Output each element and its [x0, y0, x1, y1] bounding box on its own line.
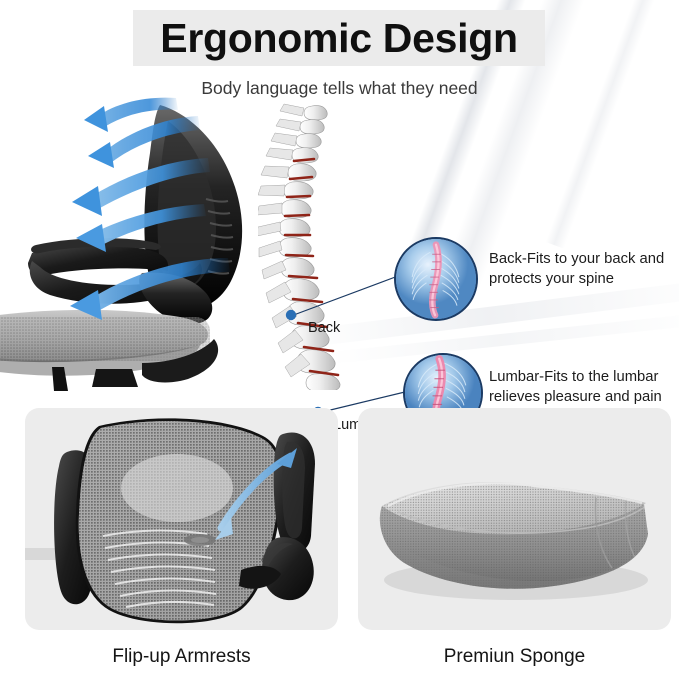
callout-back: Back-Fits to your back and protects your… — [489, 250, 679, 289]
page-title: Ergonomic Design — [133, 10, 545, 66]
spine-label-back: Back — [308, 320, 340, 336]
panel-premium-sponge — [358, 408, 671, 630]
infographic-root: Ergonomic Design Body language tells wha… — [0, 0, 679, 692]
caption-flip-up-armrests: Flip-up Armrests — [25, 646, 338, 668]
spine-xray-inset-back — [394, 237, 478, 321]
callout-back-line1: Back-Fits to your back and — [489, 250, 679, 270]
callout-lumbar-line2: relieves pleasure and pain — [489, 388, 679, 408]
mesh-seat-cushion-icon — [358, 408, 671, 630]
panel-flip-up-armrests — [25, 408, 338, 630]
marker-dot-back — [286, 310, 296, 320]
mesh-chair-back-icon — [25, 408, 338, 630]
callout-back-line2: protects your spine — [489, 270, 679, 290]
callout-lumbar-line1: Lumbar-Fits to the lumbar — [489, 368, 679, 388]
callout-lumbar: Lumbar-Fits to the lumbar relieves pleas… — [489, 368, 679, 407]
caption-premium-sponge: Premiun Sponge — [358, 646, 671, 668]
ergonomic-diagram: Back Lumbar — [0, 100, 679, 400]
